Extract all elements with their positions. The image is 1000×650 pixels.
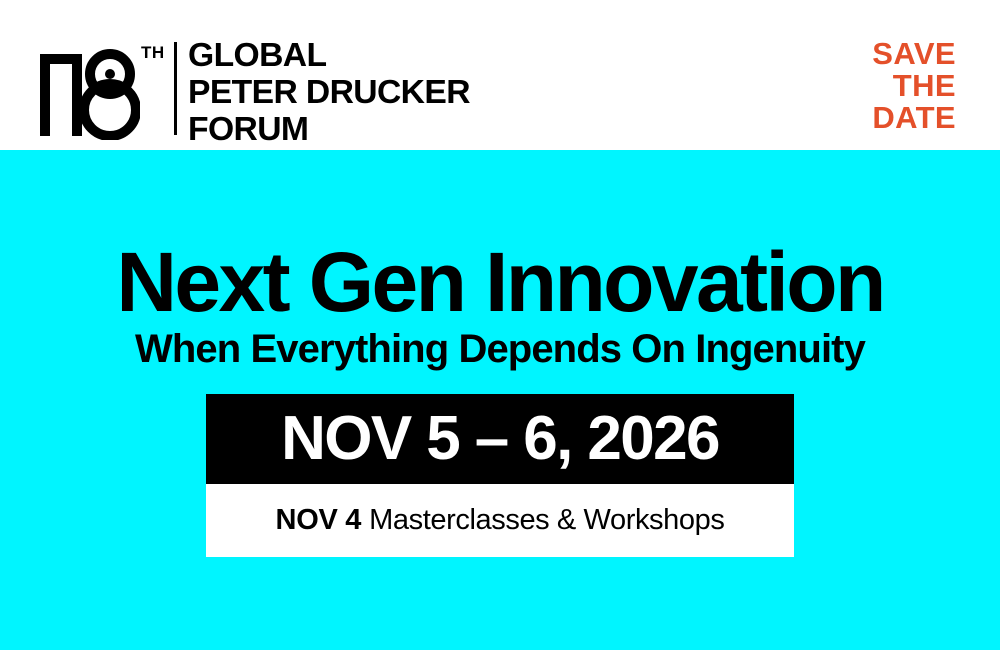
main-date-banner: NOV 5 – 6, 2026 bbox=[206, 394, 794, 484]
edition-ordinal-suffix: TH bbox=[141, 43, 165, 63]
workshop-spacer bbox=[361, 504, 369, 536]
poster-canvas: TH GLOBAL PETER DRUCKER FORUM SAVE THE D… bbox=[0, 0, 1000, 650]
edition-number-18-icon bbox=[36, 36, 140, 140]
main-date-text: NOV 5 – 6, 2026 bbox=[281, 408, 719, 470]
save-the-date-line-2: THE bbox=[872, 70, 956, 102]
save-the-date-callout: SAVE THE DATE bbox=[872, 38, 956, 134]
workshop-banner-content: NOV 4 Masterclasses & Workshops bbox=[276, 506, 725, 535]
wordmark-line-forum: FORUM bbox=[188, 112, 470, 145]
logo-wordmark: GLOBAL PETER DRUCKER FORUM bbox=[188, 38, 464, 145]
wordmark-line-peter-drucker: PETER DRUCKER bbox=[188, 75, 470, 108]
workshop-date-label: NOV 4 bbox=[276, 504, 362, 536]
save-the-date-line-3: DATE bbox=[872, 102, 956, 134]
event-date-block: NOV 5 – 6, 2026 NOV 4 Masterclasses & Wo… bbox=[206, 394, 794, 557]
header-band: TH GLOBAL PETER DRUCKER FORUM SAVE THE D… bbox=[0, 0, 1000, 150]
workshop-date-banner: NOV 4 Masterclasses & Workshops bbox=[206, 484, 794, 557]
wordmark-line-global: GLOBAL bbox=[188, 38, 470, 71]
logo-divider bbox=[174, 42, 177, 135]
workshop-description: Masterclasses & Workshops bbox=[369, 504, 724, 536]
main-stage: Next Gen Innovation When Everything Depe… bbox=[0, 150, 1000, 650]
save-the-date-line-1: SAVE bbox=[872, 38, 956, 70]
event-subheadline: When Everything Depends On Ingenuity bbox=[0, 327, 1000, 371]
event-headline: Next Gen Innovation bbox=[0, 240, 1000, 324]
forum-logo: TH GLOBAL PETER DRUCKER FORUM bbox=[36, 36, 464, 140]
